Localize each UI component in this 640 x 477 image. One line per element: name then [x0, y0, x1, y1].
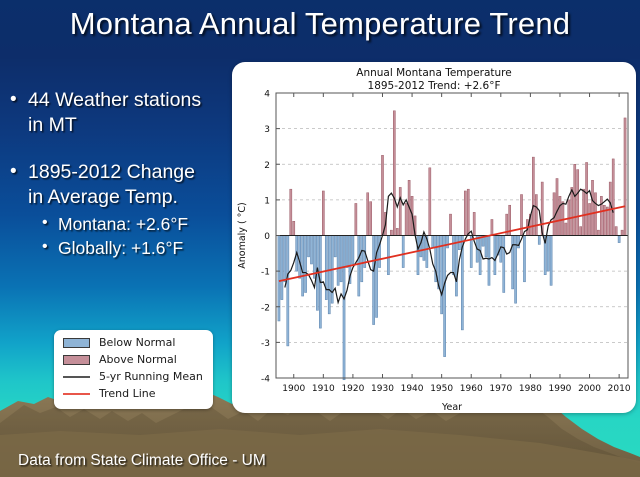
- legend-label-above-normal: Above Normal: [99, 353, 177, 366]
- svg-text:3: 3: [264, 125, 270, 135]
- chart-legend: Below Normal Above Normal 5-yr Running M…: [54, 330, 213, 409]
- below-normal-swatch-icon: [63, 338, 90, 348]
- bullet-item-montana: • Montana: +2.6°F: [6, 212, 234, 236]
- svg-text:1980: 1980: [519, 384, 542, 394]
- bullet-list: • 44 Weather stations in MT • 1895-2012 …: [6, 88, 234, 260]
- svg-text:2000: 2000: [578, 384, 601, 394]
- bullet-change-line1: 1895-2012 Change: [28, 161, 195, 183]
- bullet-stations-line1: 44 Weather stations: [28, 89, 201, 111]
- svg-text:1930: 1930: [371, 384, 394, 394]
- chart-panel: Annual Montana Temperature 1895-2012 Tre…: [232, 62, 636, 413]
- above-normal-swatch-icon: [63, 355, 90, 365]
- bullet-item-change: • 1895-2012 Change in Average Temp.: [6, 160, 234, 210]
- svg-text:-2: -2: [261, 303, 270, 313]
- bullet-stations-line2: in MT: [28, 113, 234, 138]
- bullet-item-stations: • 44 Weather stations in MT: [6, 88, 234, 138]
- svg-text:-1: -1: [261, 268, 270, 278]
- trend-line-icon: [63, 393, 90, 395]
- svg-text:1960: 1960: [460, 384, 483, 394]
- legend-label-running-mean: 5-yr Running Mean: [99, 370, 203, 383]
- svg-text:1940: 1940: [401, 384, 424, 394]
- legend-label-below-normal: Below Normal: [99, 336, 175, 349]
- bullet-marker-icon: •: [42, 235, 48, 259]
- bullet-item-globally: • Globally: +1.6°F: [6, 236, 234, 260]
- bullet-spacer: [6, 140, 234, 160]
- svg-text:1970: 1970: [489, 384, 512, 394]
- bullet-marker-icon: •: [10, 159, 17, 184]
- page-title: Montana Annual Temperature Trend: [0, 6, 640, 42]
- svg-text:1910: 1910: [312, 384, 335, 394]
- svg-text:Year: Year: [441, 402, 462, 413]
- svg-text:1990: 1990: [549, 384, 572, 394]
- svg-text:0: 0: [264, 232, 270, 242]
- svg-text:4: 4: [264, 90, 270, 100]
- source-footer: Data from State Climate Office - UM: [18, 452, 266, 470]
- running-mean-line-icon: [63, 376, 90, 378]
- bullet-marker-icon: •: [10, 87, 17, 112]
- temperature-anomaly-plot: -4-3-2-101234190019101920193019401950196…: [232, 62, 636, 413]
- svg-text:Anomaly ( °C): Anomaly ( °C): [237, 202, 248, 269]
- slide-canvas: Montana Annual Temperature Trend • 44 We…: [0, 0, 640, 477]
- legend-item-trend-line: Trend Line: [54, 385, 213, 402]
- legend-item-below-normal: Below Normal: [54, 334, 213, 351]
- svg-text:-3: -3: [261, 339, 270, 349]
- legend-item-above-normal: Above Normal: [54, 351, 213, 368]
- legend-label-trend-line: Trend Line: [99, 387, 156, 400]
- legend-item-running-mean: 5-yr Running Mean: [54, 368, 213, 385]
- svg-text:1950: 1950: [430, 384, 453, 394]
- svg-text:1920: 1920: [341, 384, 364, 394]
- bullet-globally-label: Globally: +1.6°F: [58, 238, 183, 258]
- svg-text:2: 2: [264, 161, 270, 171]
- svg-text:1: 1: [264, 196, 270, 206]
- bullet-change-line2: in Average Temp.: [28, 185, 234, 210]
- svg-text:-4: -4: [261, 375, 270, 385]
- svg-text:2010: 2010: [608, 384, 631, 394]
- bullet-marker-icon: •: [42, 211, 48, 235]
- bullet-montana-label: Montana: +2.6°F: [58, 214, 188, 234]
- svg-text:1900: 1900: [282, 384, 305, 394]
